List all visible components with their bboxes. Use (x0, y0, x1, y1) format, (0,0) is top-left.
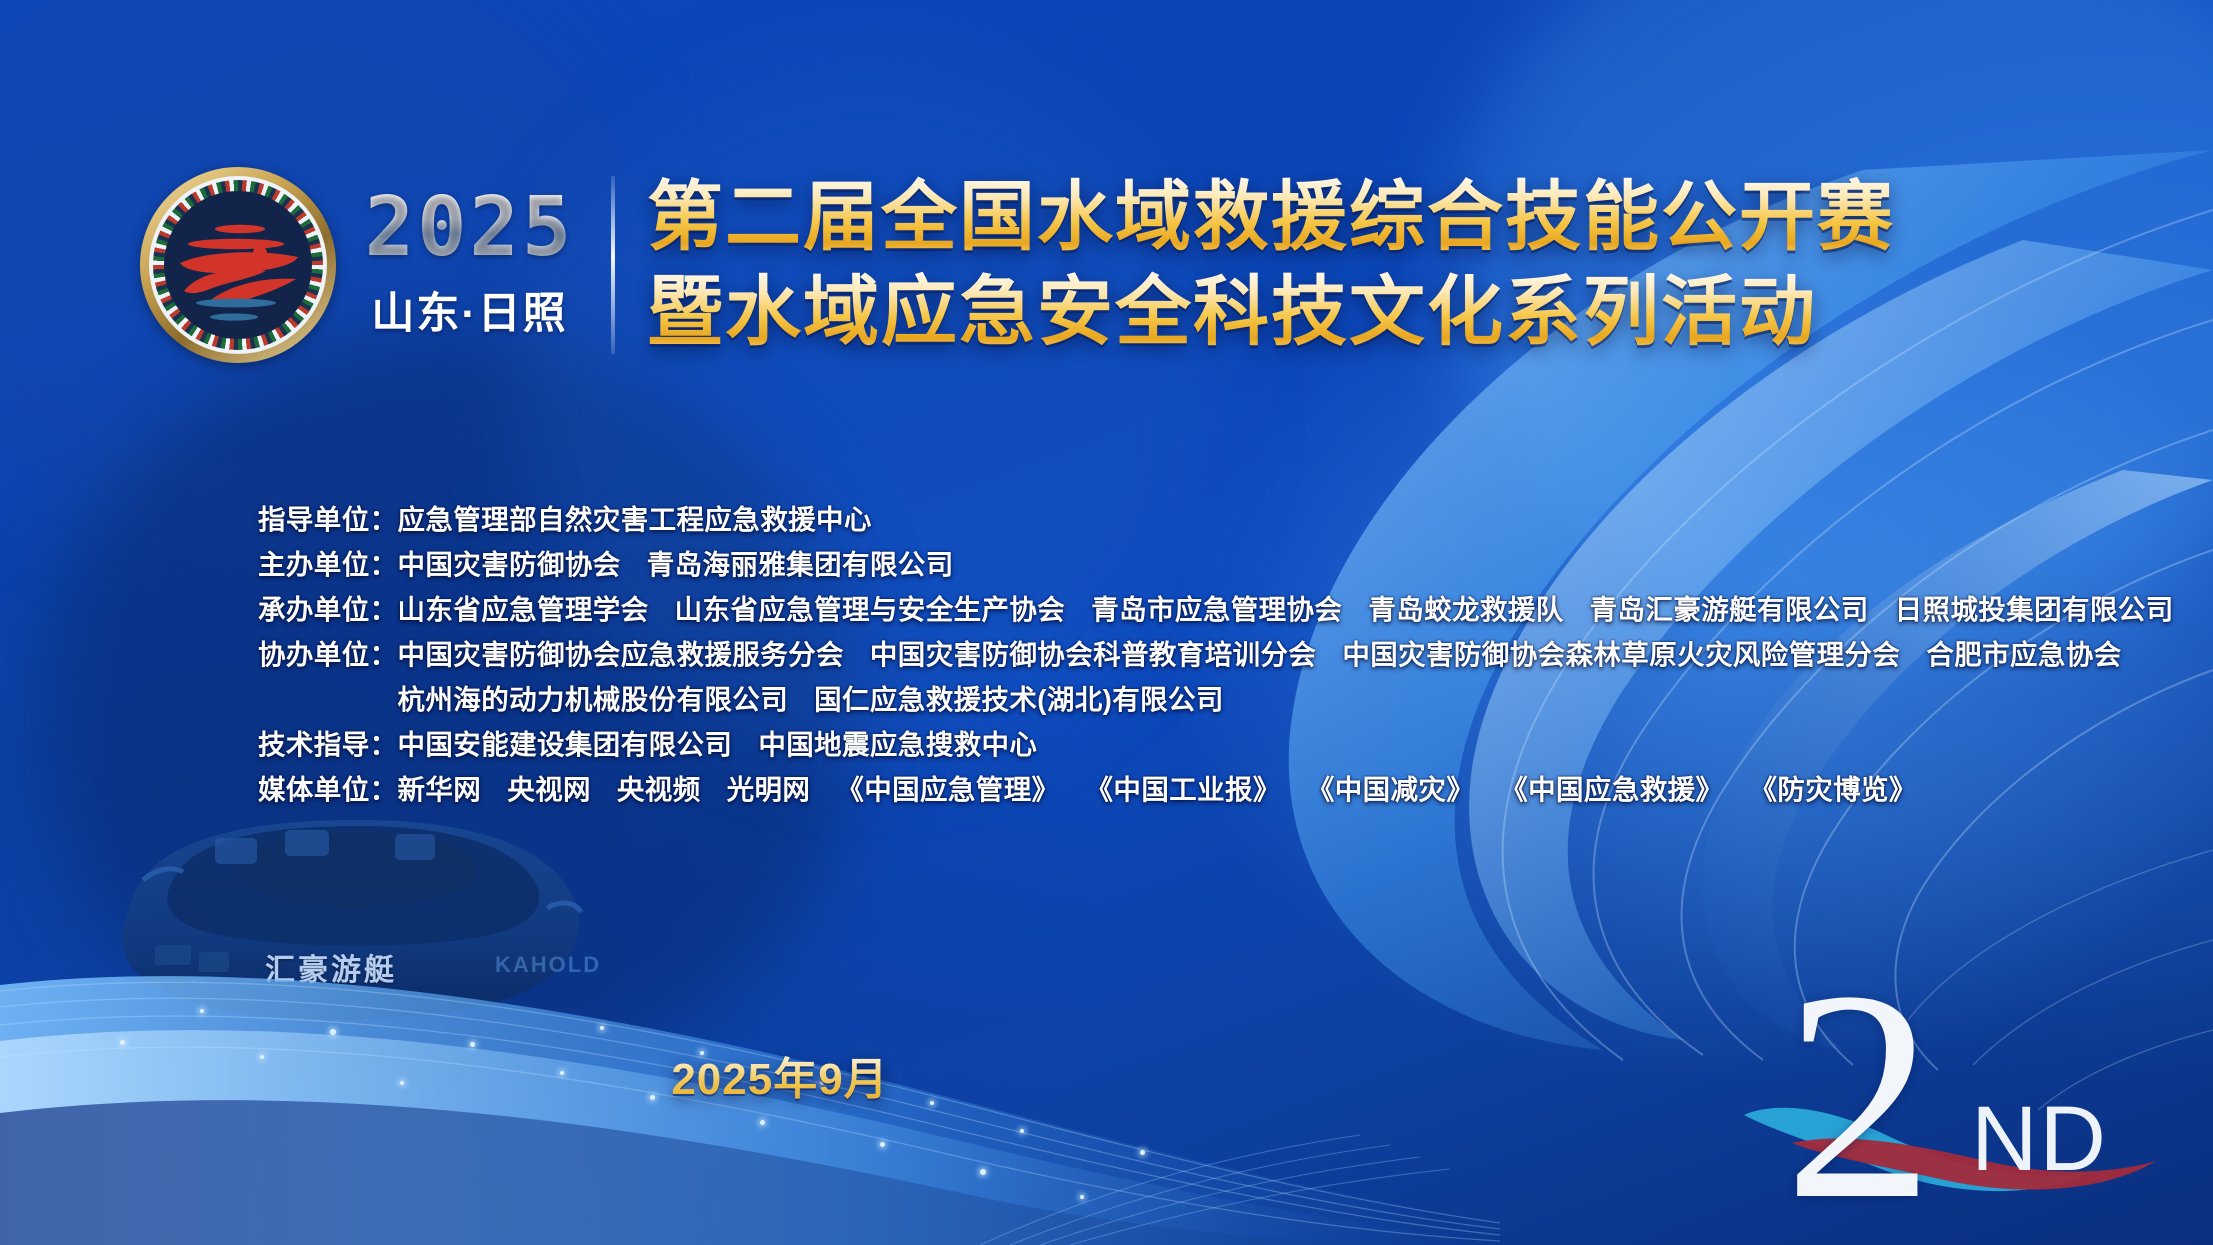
organization-row-label: 指导单位： (258, 506, 398, 534)
organization-name: 新华网 (398, 776, 482, 804)
organization-name: 国仁应急救援技术(湖北)有限公司 (814, 686, 1224, 714)
organization-row-label: 协办单位： (258, 641, 398, 669)
organization-credits-list: 指导单位：应急管理部自然灾害工程应急救援中心主办单位：中国灾害防御协会青岛海丽雅… (258, 497, 2174, 812)
organization-row-label: 主办单位： (258, 551, 398, 579)
title-block: 第二届全国水域救援综合技能公开赛 暨水域应急安全科技文化系列活动 (647, 175, 1895, 355)
organization-name: 中国地震应急搜救中心 (758, 731, 1037, 759)
organization-row: 媒体单位：新华网央视网央视频光明网《中国应急管理》《中国工业报》《中国减灾》《中… (258, 767, 2174, 812)
organization-name: 《防灾博览》 (1749, 776, 1916, 804)
organization-row: 协办单位：杭州海的动力机械股份有限公司国仁应急救援技术(湖北)有限公司 (258, 677, 2174, 722)
organization-name: 中国灾害防御协会科普教育培训分会 (870, 641, 1316, 669)
organization-name: 《中国工业报》 (1086, 776, 1281, 804)
organization-name: 应急管理部自然灾害工程应急救援中心 (398, 506, 872, 534)
header-divider (611, 176, 615, 354)
organization-name: 青岛汇豪游艇有限公司 (1590, 596, 1869, 624)
city-text: 山东·日照 (362, 279, 577, 341)
organization-row-label: 技术指导： (258, 731, 398, 759)
organization-name: 杭州海的动力机械股份有限公司 (398, 686, 789, 714)
organization-row: 协办单位：中国灾害防御协会应急救援服务分会中国灾害防御协会科普教育培训分会中国灾… (258, 632, 2174, 677)
organization-name: 《中国应急管理》 (836, 776, 1059, 804)
organization-name: 中国安能建设集团有限公司 (398, 731, 733, 759)
organization-row-label: 承办单位： (258, 596, 398, 624)
organization-name: 山东省应急管理学会 (398, 596, 649, 624)
boat-brand-text: 汇豪游艇 (265, 945, 397, 989)
main-title-line-2: 暨水域应急安全科技文化系列活动 (647, 270, 1895, 355)
organization-items: 山东省应急管理学会山东省应急管理与安全生产协会青岛市应急管理协会青岛蛟龙救援队青… (398, 596, 2174, 624)
organization-name: 青岛海丽雅集团有限公司 (647, 551, 954, 579)
organization-items: 中国灾害防御协会青岛海丽雅集团有限公司 (398, 551, 954, 579)
organization-name: 中国灾害防御协会 (398, 551, 621, 579)
boat-brand-secondary-text: KAHOLD (495, 952, 601, 978)
organization-row: 承办单位：山东省应急管理学会山东省应急管理与安全生产协会青岛市应急管理协会青岛蛟… (258, 587, 2174, 632)
organization-name: 《中国减灾》 (1307, 776, 1474, 804)
organization-row-label: 媒体单位： (258, 776, 398, 804)
organization-items: 中国灾害防御协会应急救援服务分会中国灾害防御协会科普教育培训分会中国灾害防御协会… (398, 641, 2122, 669)
organization-name: 青岛蛟龙救援队 (1368, 596, 1563, 624)
organization-name: 日照城投集团有限公司 (1895, 596, 2174, 624)
main-title-line-1: 第二届全国水域救援综合技能公开赛 (647, 175, 1895, 260)
event-date: 2025年9月 (0, 1043, 1560, 1107)
year-city-block: 2025 山东·日照 (362, 189, 577, 341)
year-text: 2025 (362, 189, 577, 267)
edition-numeral: 2 (1784, 945, 1934, 1245)
organization-name: 中国灾害防御协会森林草原火灾风险管理分会 (1342, 641, 1900, 669)
organization-name: 光明网 (727, 776, 811, 804)
organization-name: 中国灾害防御协会应急救援服务分会 (398, 641, 844, 669)
water-rescue-emblem-icon (140, 167, 336, 363)
organization-items: 新华网央视网央视频光明网《中国应急管理》《中国工业报》《中国减灾》《中国应急救援… (398, 776, 1917, 804)
organization-name: 央视网 (507, 776, 591, 804)
organization-items: 杭州海的动力机械股份有限公司国仁应急救援技术(湖北)有限公司 (398, 686, 1224, 714)
organization-name: 央视频 (617, 776, 701, 804)
organization-row: 技术指导：中国安能建设集团有限公司中国地震应急搜救中心 (258, 722, 2174, 767)
sparkle-dots-decoration (0, 985, 1200, 1245)
organization-name: 山东省应急管理与安全生产协会 (675, 596, 1066, 624)
organization-items: 中国安能建设集团有限公司中国地震应急搜救中心 (398, 731, 1038, 759)
organization-items: 应急管理部自然灾害工程应急救援中心 (398, 506, 872, 534)
poster-canvas: 汇豪游艇 KAHOLD (0, 0, 2213, 1245)
organization-name: 《中国应急救援》 (1500, 776, 1723, 804)
second-edition-mark: 2 ND (1778, 957, 2108, 1227)
poster-header: 2025 山东·日照 第二届全国水域救援综合技能公开赛 暨水域应急安全科技文化系… (0, 150, 2213, 380)
organization-row: 主办单位：中国灾害防御协会青岛海丽雅集团有限公司 (258, 542, 2174, 587)
organization-row: 指导单位：应急管理部自然灾害工程应急救援中心 (258, 497, 2174, 542)
organization-name: 青岛市应急管理协会 (1091, 596, 1342, 624)
edition-suffix: ND (1971, 1093, 2108, 1185)
organization-name: 合肥市应急协会 (1926, 641, 2121, 669)
